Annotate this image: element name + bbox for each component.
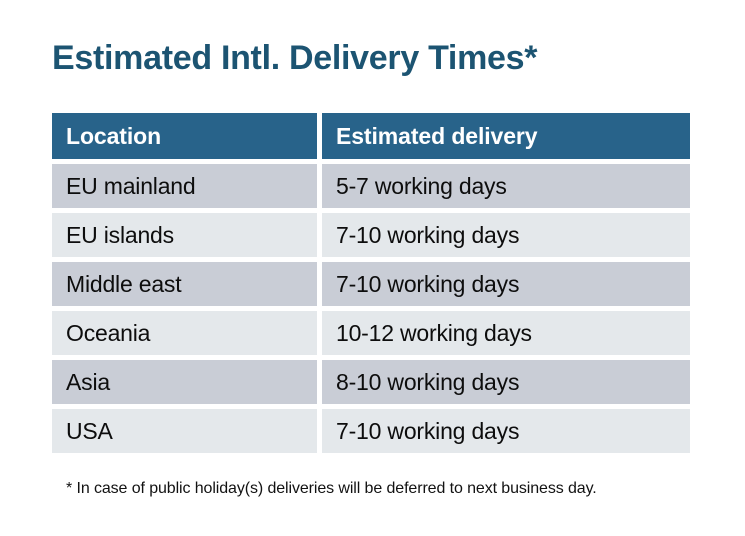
table-row: EU islands 7-10 working days: [52, 213, 690, 257]
table-row: Oceania 10-12 working days: [52, 311, 690, 355]
table-header-cell-delivery: Estimated delivery: [322, 113, 690, 159]
table-row: EU mainland 5-7 working days: [52, 164, 690, 208]
table-cell-delivery: 7-10 working days: [322, 409, 690, 453]
table-cell-delivery: 7-10 working days: [322, 213, 690, 257]
table-cell-delivery: 10-12 working days: [322, 311, 690, 355]
table-row: Middle east 7-10 working days: [52, 262, 690, 306]
cell-delivery-value: 7-10 working days: [336, 418, 519, 445]
table-row: Asia 8-10 working days: [52, 360, 690, 404]
cell-delivery-value: 8-10 working days: [336, 369, 519, 396]
column-header-location-label: Location: [66, 123, 161, 150]
page-title: Estimated Intl. Delivery Times*: [52, 36, 537, 80]
cell-delivery-value: 10-12 working days: [336, 320, 532, 347]
table-cell-location: EU mainland: [52, 164, 317, 208]
table-cell-location: Asia: [52, 360, 317, 404]
table-cell-location: USA: [52, 409, 317, 453]
cell-delivery-value: 5-7 working days: [336, 173, 507, 200]
cell-delivery-value: 7-10 working days: [336, 222, 519, 249]
cell-location-value: EU islands: [66, 222, 174, 249]
table-cell-location: EU islands: [52, 213, 317, 257]
delivery-times-document: Estimated Intl. Delivery Times* Location…: [0, 0, 745, 536]
table-cell-location: Middle east: [52, 262, 317, 306]
cell-location-value: Asia: [66, 369, 110, 396]
cell-location-value: Middle east: [66, 271, 181, 298]
column-header-delivery-label: Estimated delivery: [336, 123, 537, 150]
estimated-delivery-table: Location Estimated delivery EU mainland …: [52, 113, 690, 453]
table-cell-delivery: 5-7 working days: [322, 164, 690, 208]
cell-delivery-value: 7-10 working days: [336, 271, 519, 298]
table-cell-delivery: 8-10 working days: [322, 360, 690, 404]
table-row: USA 7-10 working days: [52, 409, 690, 453]
table-cell-location: Oceania: [52, 311, 317, 355]
footnote-text: * In case of public holiday(s) deliverie…: [66, 480, 597, 498]
table-cell-delivery: 7-10 working days: [322, 262, 690, 306]
cell-location-value: Oceania: [66, 320, 150, 347]
cell-location-value: EU mainland: [66, 173, 195, 200]
table-header-row: Location Estimated delivery: [52, 113, 690, 159]
cell-location-value: USA: [66, 418, 113, 445]
table-header-cell-location: Location: [52, 113, 317, 159]
